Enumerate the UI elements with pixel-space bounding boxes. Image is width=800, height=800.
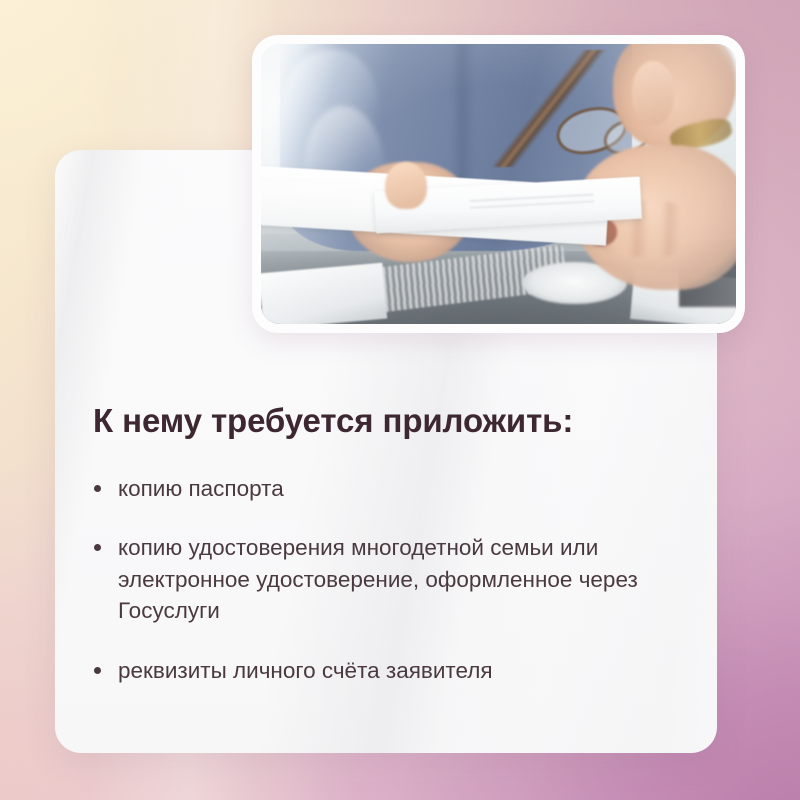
bullet-dot-icon — [94, 485, 101, 492]
list-item: реквизиты личного счёта заявителя — [93, 655, 653, 687]
bullet-dot-icon — [94, 667, 101, 674]
list-item-label: реквизиты личного счёта заявителя — [118, 658, 493, 683]
requirements-list: копию паспорта копию удостоверения много… — [93, 473, 653, 687]
photo-image — [261, 44, 736, 324]
photo-soft-focus-overlay — [261, 44, 736, 324]
list-item: копию паспорта — [93, 473, 653, 505]
photo-card — [252, 35, 745, 333]
list-item-label: копию удостоверения многодетной семьи ил… — [118, 535, 638, 623]
page-title: К нему требуется приложить: — [93, 402, 653, 441]
list-item-label: копию паспорта — [118, 476, 284, 501]
list-item: копию удостоверения многодетной семьи ил… — [93, 532, 653, 627]
bullet-dot-icon — [94, 544, 101, 551]
slide-canvas: К нему требуется приложить: копию паспор… — [0, 0, 800, 800]
content-block: К нему требуется приложить: копию паспор… — [93, 402, 653, 686]
